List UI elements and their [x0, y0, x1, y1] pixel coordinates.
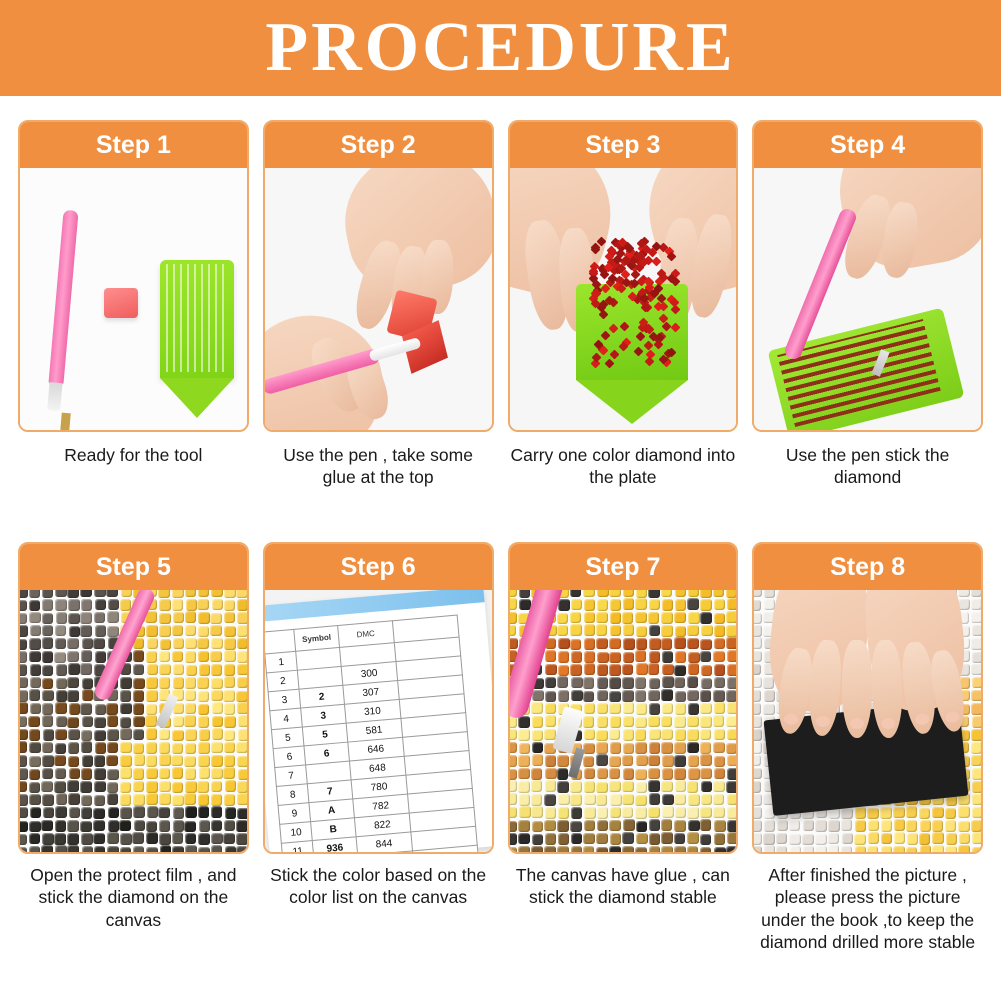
- step-8-illustration: [754, 590, 981, 852]
- step-4-title: Step 4: [754, 122, 981, 168]
- glue-wax-icon: [104, 288, 138, 318]
- step-6-title: Step 6: [265, 544, 492, 590]
- step-card-3: Step 3 Carry one color diamond into the …: [508, 120, 739, 518]
- step-card-2: Step 2 Use the pen , take s: [263, 120, 494, 518]
- step-3-caption: Carry one color diamond into the plate: [508, 444, 739, 518]
- step-5-title: Step 5: [20, 544, 247, 590]
- step-8-caption: After finished the picture , please pres…: [752, 864, 983, 954]
- step-4-image: [754, 168, 981, 430]
- step-5-caption: Open the protect film , and stick the di…: [18, 864, 249, 938]
- step-card-7: Step 7 The canvas have glue , can stick …: [508, 542, 739, 954]
- step-8-title: Step 8: [754, 544, 981, 590]
- step-card-5: Step 5 Open the protect film , and stick…: [18, 542, 249, 954]
- fingernail-icon: [816, 715, 831, 727]
- step-2-card: Step 2: [263, 120, 494, 432]
- color-list-table: SymbolDMC1230032307433105558166646764887…: [265, 615, 483, 852]
- step-4-card: Step 4: [752, 120, 983, 432]
- step-7-illustration: [510, 590, 737, 852]
- red-diamonds-icon: [590, 238, 680, 373]
- step-2-image: [265, 168, 492, 430]
- fingernail-icon: [881, 718, 895, 729]
- step-card-6: Step 6 SymbolDMC123003230743310555816664…: [263, 542, 494, 954]
- step-7-image: [510, 590, 737, 852]
- step-2-illustration: [265, 168, 492, 430]
- step-5-illustration: [20, 590, 247, 852]
- page-title: PROCEDURE: [265, 13, 735, 83]
- step-card-1: Step 1 Ready for the tool: [18, 120, 249, 518]
- fingernail-icon: [915, 713, 930, 725]
- step-7-caption: The canvas have glue , can stick the dia…: [508, 864, 739, 938]
- step-1-illustration: [20, 168, 247, 430]
- step-7-card: Step 7: [508, 542, 739, 854]
- step-1-title: Step 1: [20, 122, 247, 168]
- color-list-cell: 11: [281, 841, 314, 852]
- fingernail-icon: [850, 718, 864, 729]
- fingernail-icon: [784, 713, 799, 726]
- steps-grid-row-2: Step 5 Open the protect film , and stick…: [0, 518, 1001, 954]
- step-1-card: Step 1: [18, 120, 249, 432]
- step-5-image: [20, 590, 247, 852]
- step-8-card: Step 8: [752, 542, 983, 854]
- pen-tip-icon: [60, 413, 71, 430]
- tray-grooves-icon: [166, 264, 228, 372]
- color-list-sheet: SymbolDMC1230032307433105558166646764887…: [265, 590, 492, 852]
- step-2-caption: Use the pen , take some glue at the top: [263, 444, 494, 518]
- step-3-illustration: [510, 168, 737, 430]
- step-2-title: Step 2: [265, 122, 492, 168]
- step-8-image: [754, 590, 981, 852]
- finger-icon: [842, 640, 872, 738]
- page-header: PROCEDURE: [0, 0, 1001, 96]
- step-3-card: Step 3: [508, 120, 739, 432]
- color-list-cell: 936: [312, 837, 357, 852]
- step-6-image: SymbolDMC1230032307433105558166646764887…: [265, 590, 492, 852]
- step-5-card: Step 5: [18, 542, 249, 854]
- step-card-8: Step 8 After finished the picture , plea…: [752, 542, 983, 954]
- step-6-card: Step 6 SymbolDMC123003230743310555816664…: [263, 542, 494, 854]
- color-list-header-cell: [265, 629, 296, 654]
- step-3-title: Step 3: [510, 122, 737, 168]
- step-6-illustration: SymbolDMC1230032307433105558166646764887…: [265, 590, 492, 852]
- step-card-4: Step 4 Use the pen stick the diamond: [752, 120, 983, 518]
- step-1-image: [20, 168, 247, 430]
- step-1-caption: Ready for the tool: [18, 444, 249, 518]
- step-6-caption: Stick the color based on the color list …: [263, 864, 494, 938]
- fingernail-icon: [945, 710, 961, 723]
- step-7-title: Step 7: [510, 544, 737, 590]
- step-3-image: [510, 168, 737, 430]
- step-4-illustration: [754, 168, 981, 430]
- step-4-caption: Use the pen stick the diamond: [752, 444, 983, 518]
- steps-grid-row-1: Step 1 Ready for the tool Step 2: [0, 96, 1001, 518]
